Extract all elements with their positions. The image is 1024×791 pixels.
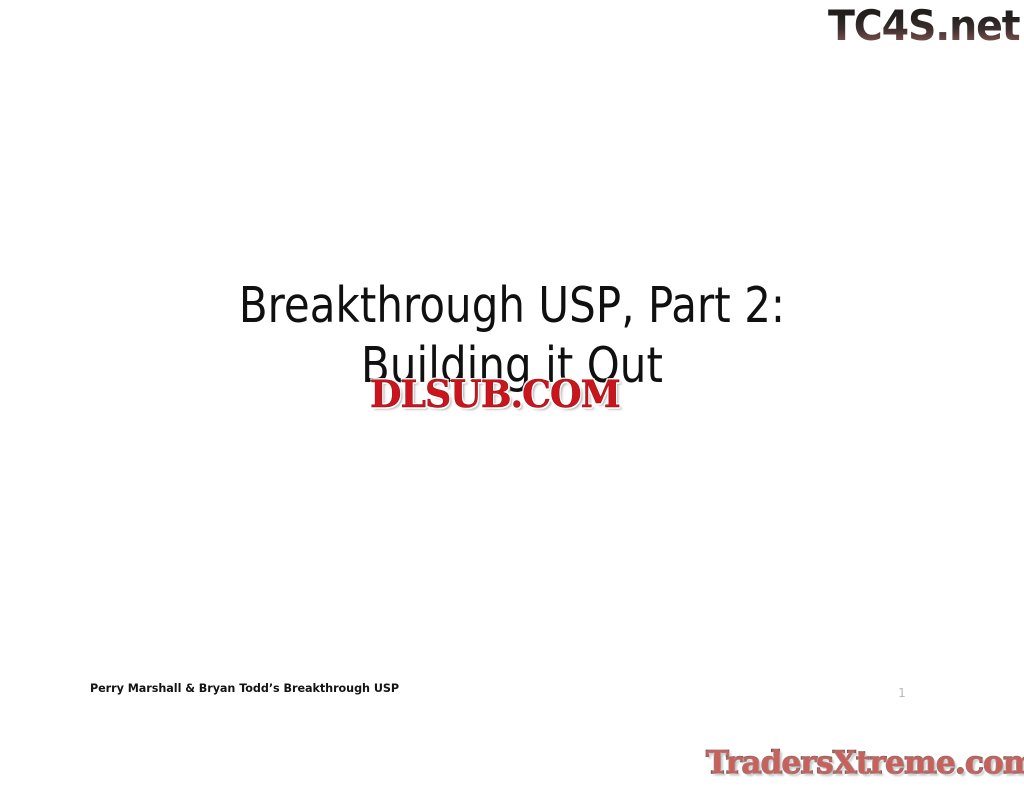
tradersxtreme-com-watermark: TradersXtreme.com	[702, 742, 1024, 791]
tc4s-net-logo-watermark: TC4S.net	[828, 0, 1024, 56]
slide-title-line-1: Breakthrough USP, Part 2:	[26, 276, 999, 336]
slide-footer-attribution: Perry Marshall & Bryan Todd’s Breakthrou…	[90, 682, 399, 696]
dlsub-com-watermark-text: DLSUB.COM	[370, 372, 620, 416]
tc4s-net-logo-text: TC4S.net	[828, 2, 1020, 50]
slide-page-number: 1	[894, 685, 910, 701]
presentation-slide: TC4S.net Breakthrough USP, Part 2: Build…	[0, 0, 1024, 791]
dlsub-com-watermark: DLSUB.COM	[370, 372, 658, 418]
tradersxtreme-com-watermark-text: TradersXtreme.com	[706, 743, 1024, 783]
